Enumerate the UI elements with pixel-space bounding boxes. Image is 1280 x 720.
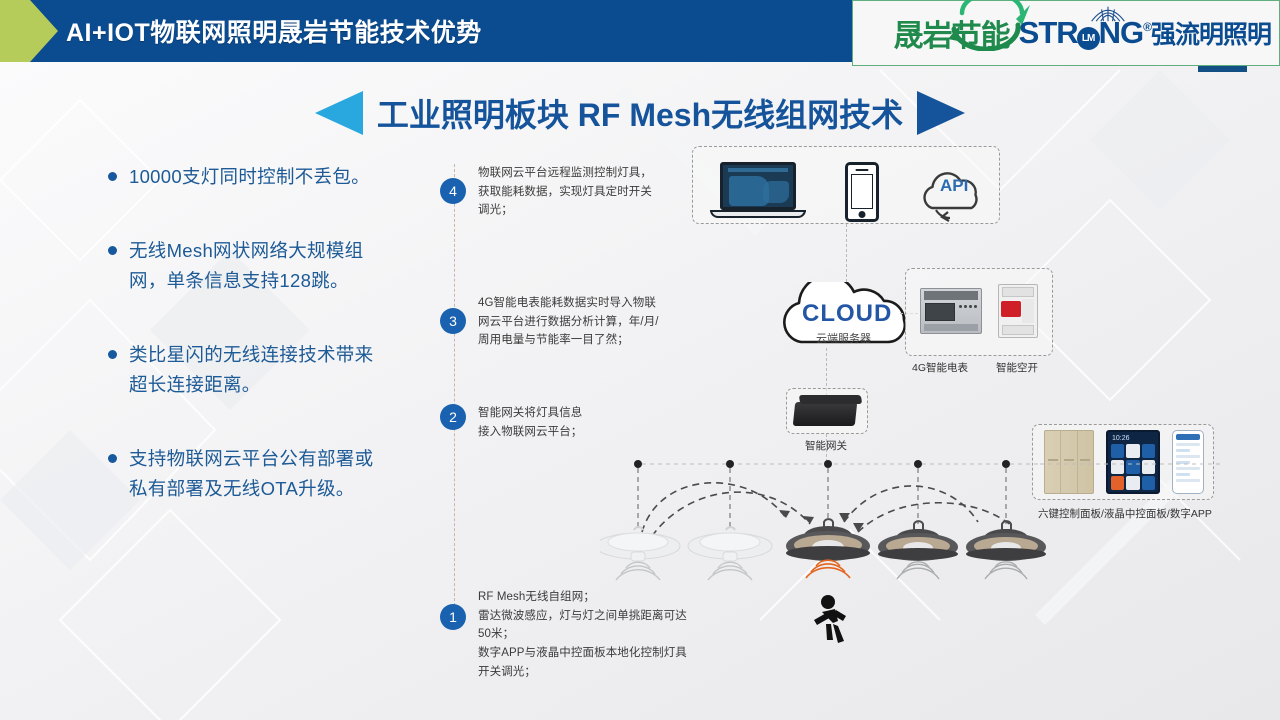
- step-number-badge: 1: [440, 604, 466, 630]
- radar-wave-active: [806, 560, 850, 578]
- meter-leds: [959, 305, 977, 308]
- list-item: 10000支灯同时控制不丢包。: [108, 162, 374, 192]
- logo-chinese-brand: 晟岩节能: [894, 11, 1010, 55]
- meter-caption: 4G智能电表: [912, 360, 968, 375]
- meter-lcd: [925, 303, 955, 321]
- logo-brand-text-1: 晟岩: [894, 20, 952, 53]
- highbay-light-4: [878, 521, 958, 561]
- step-number-badge: 2: [440, 404, 466, 430]
- highbay-light-2: [688, 527, 772, 561]
- api-label: API: [940, 176, 968, 196]
- cloud-label: CLOUD: [802, 300, 892, 328]
- feature-bullet-list: 10000支灯同时控制不丢包。 无线Mesh网状网络大规模组网，单条信息支持12…: [108, 162, 374, 548]
- laptop-dashboard-bar: [728, 168, 788, 172]
- step-item-3: 3 4G智能电表能耗数据实时导入物联 网云平台进行数据分析计算，年/月/ 周用电…: [440, 294, 659, 350]
- phone-screen: [851, 174, 873, 209]
- breaker-top-terminal: [1002, 287, 1034, 297]
- smart-breaker-icon: [998, 284, 1038, 338]
- logo-strong-part2: NG: [1099, 15, 1144, 50]
- logo-tagline: 强流明照明: [1151, 15, 1271, 51]
- smart-meter-icon: [920, 288, 982, 334]
- smart-gateway-icon: [793, 402, 858, 426]
- step-text: RF Mesh无线自组网； 雷达微波感应，灯与灯之间单挑距离可达50米； 数字A…: [478, 588, 690, 681]
- step-number-badge: 4: [440, 178, 466, 204]
- laptop-screen: [720, 162, 796, 210]
- logo-registered-mark: ®: [1143, 20, 1151, 34]
- list-item: 类比星闪的无线连接技术带来超长连接距离。: [108, 340, 374, 400]
- step-number-badge: 3: [440, 308, 466, 334]
- step-text: 智能网关将灯具信息 接入物联网云平台；: [478, 404, 582, 441]
- list-item: 无线Mesh网状网络大规模组网，单条信息支持128跳。: [108, 236, 374, 296]
- breaker-bottom-terminal: [1002, 325, 1034, 335]
- app-row: [1176, 443, 1200, 446]
- radar-wave-2: [708, 562, 752, 580]
- breaker-caption: 智能空开: [996, 360, 1038, 375]
- highbay-light-5: [966, 521, 1046, 561]
- green-chevron-decoration: [0, 0, 58, 62]
- lcd-panel-time: 10:26: [1111, 435, 1155, 442]
- phone-speaker: [856, 169, 869, 171]
- radar-wave-4: [897, 562, 939, 579]
- step-text: 4G智能电表能耗数据实时导入物联 网云平台进行数据分析计算，年/月/ 周用电量与…: [478, 294, 659, 350]
- meter-terminal-bottom: [924, 324, 978, 331]
- bullet-text: 类比星闪的无线连接技术带来超长连接距离。: [129, 340, 374, 400]
- app-header-bar: [1176, 434, 1200, 440]
- bullet-dot-icon: [108, 350, 117, 359]
- bullet-text: 支持物联网云平台公有部署或私有部署及无线OTA升级。: [129, 444, 374, 504]
- network-architecture-diagram: API CLOUD 云端服务器 4G智能电表 智能空开 智能网关 10: [600, 140, 1280, 660]
- breaker-switch-lever: [1001, 301, 1021, 317]
- highbay-light-1: [600, 527, 680, 561]
- phone-home-button: [859, 211, 866, 218]
- bullet-dot-icon: [108, 172, 117, 181]
- bullet-dot-icon: [108, 246, 117, 255]
- logo-strong-text: STRLMNG®: [1019, 15, 1151, 51]
- logo-underline-decoration: [1198, 66, 1247, 72]
- page-title: AI+IOT物联网照明晟岩节能技术优势: [66, 13, 482, 49]
- laptop-icon: [720, 162, 806, 218]
- step-item-2: 2 智能网关将灯具信息 接入物联网云平台；: [440, 404, 582, 441]
- radar-wave-1: [616, 562, 660, 580]
- step-connector-line: [454, 164, 455, 626]
- bullet-text: 10000支灯同时控制不丢包。: [129, 162, 370, 192]
- breaker-body: [1022, 299, 1034, 323]
- meter-terminal-top: [924, 291, 978, 300]
- walking-person-icon: [814, 595, 846, 643]
- list-item: 支持物联网云平台公有部署或私有部署及无线OTA升级。: [108, 444, 374, 504]
- step-item-4: 4 物联网云平台远程监测控制灯具， 获取能耗数据，实现灯具定时开关 调光；: [440, 164, 652, 220]
- right-triangle-icon: [917, 91, 965, 135]
- slide-title-row: 工业照明板块 RF Mesh无线组网技术: [0, 88, 1280, 138]
- logo-strong-part1: STR: [1019, 15, 1078, 50]
- mesh-network-graphic: [600, 450, 1280, 660]
- laptop-base: [710, 210, 806, 218]
- radar-wave-5: [985, 562, 1027, 579]
- bullet-dot-icon: [108, 454, 117, 463]
- step-item-1: 1 RF Mesh无线自组网； 雷达微波感应，灯与灯之间单挑距离可达50米； 数…: [440, 588, 690, 681]
- brand-logo: 晟岩节能 STRLMNG® 强流明照明: [852, 0, 1280, 66]
- cloud-sublabel: 云端服务器: [816, 330, 871, 346]
- slide-title: 工业照明板块 RF Mesh无线组网技术: [377, 90, 903, 136]
- left-triangle-icon: [315, 91, 363, 135]
- laptop-map-shape-2: [763, 181, 789, 203]
- gateway-top-face: [799, 395, 862, 404]
- logo-lm-badge: LM: [1077, 27, 1100, 50]
- mobile-phone-icon: [845, 162, 879, 222]
- bullet-text: 无线Mesh网状网络大规模组网，单条信息支持128跳。: [129, 236, 374, 296]
- step-text: 物联网云平台远程监测控制灯具， 获取能耗数据，实现灯具定时开关 调光；: [478, 164, 652, 220]
